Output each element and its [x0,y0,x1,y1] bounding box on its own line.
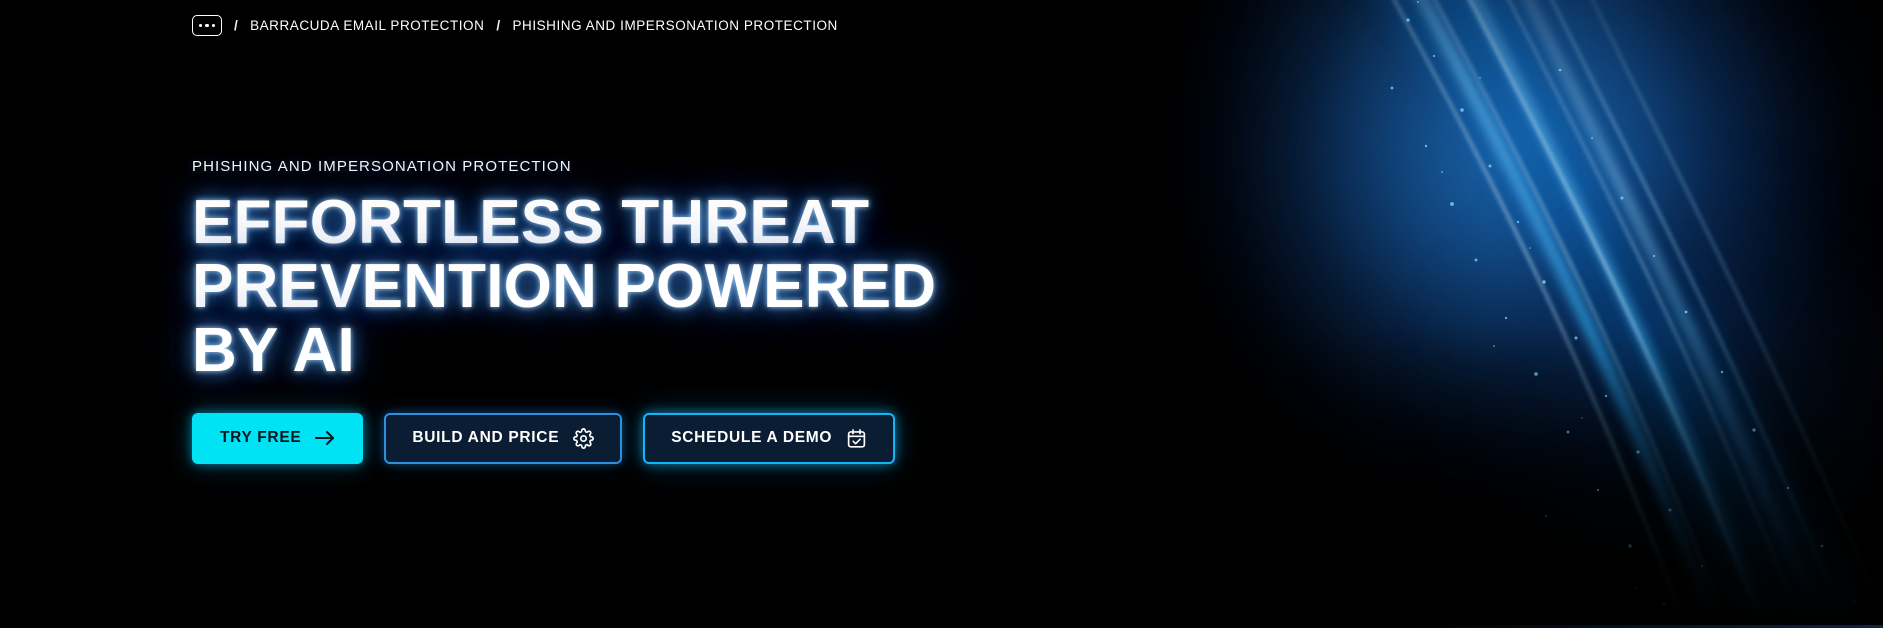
breadcrumb-separator: / [234,18,238,33]
schedule-a-demo-button-label: SCHEDULE A DEMO [671,429,832,447]
ellipsis-dot [199,24,202,27]
calendar-check-icon [846,428,867,449]
fiber-optic-streaks-graphic [1330,0,1883,628]
ellipsis-dot [205,24,208,27]
hero-section: / BARRACUDA EMAIL PROTECTION / PHISHING … [0,0,1883,628]
build-and-price-button[interactable]: BUILD AND PRICE [384,413,622,464]
hero-eyebrow: PHISHING AND IMPERSONATION PROTECTION [192,158,1292,175]
hero-content: PHISHING AND IMPERSONATION PROTECTION EF… [192,158,1292,464]
gear-icon [573,428,594,449]
breadcrumb: / BARRACUDA EMAIL PROTECTION / PHISHING … [192,15,838,36]
arrow-right-icon [315,430,335,446]
ellipsis-menu-icon[interactable] [192,15,222,36]
try-free-button-label: TRY FREE [220,429,301,447]
breadcrumb-item-current: PHISHING AND IMPERSONATION PROTECTION [512,18,837,33]
breadcrumb-separator: / [496,18,500,33]
hero-cta-row: TRY FREE BUILD AND PRICE [192,413,1292,464]
ellipsis-dot [212,24,215,27]
try-free-button[interactable]: TRY FREE [192,413,363,464]
page-footer-strip [0,622,1883,628]
breadcrumb-item-barracuda-email-protection[interactable]: BARRACUDA EMAIL PROTECTION [250,18,484,33]
hero-headline: EFFORTLESS THREAT PREVENTION POWERED BY … [192,191,1022,383]
background-glow-lower [1220,170,1883,628]
schedule-a-demo-button[interactable]: SCHEDULE A DEMO [643,413,895,464]
build-and-price-button-label: BUILD AND PRICE [412,429,559,447]
